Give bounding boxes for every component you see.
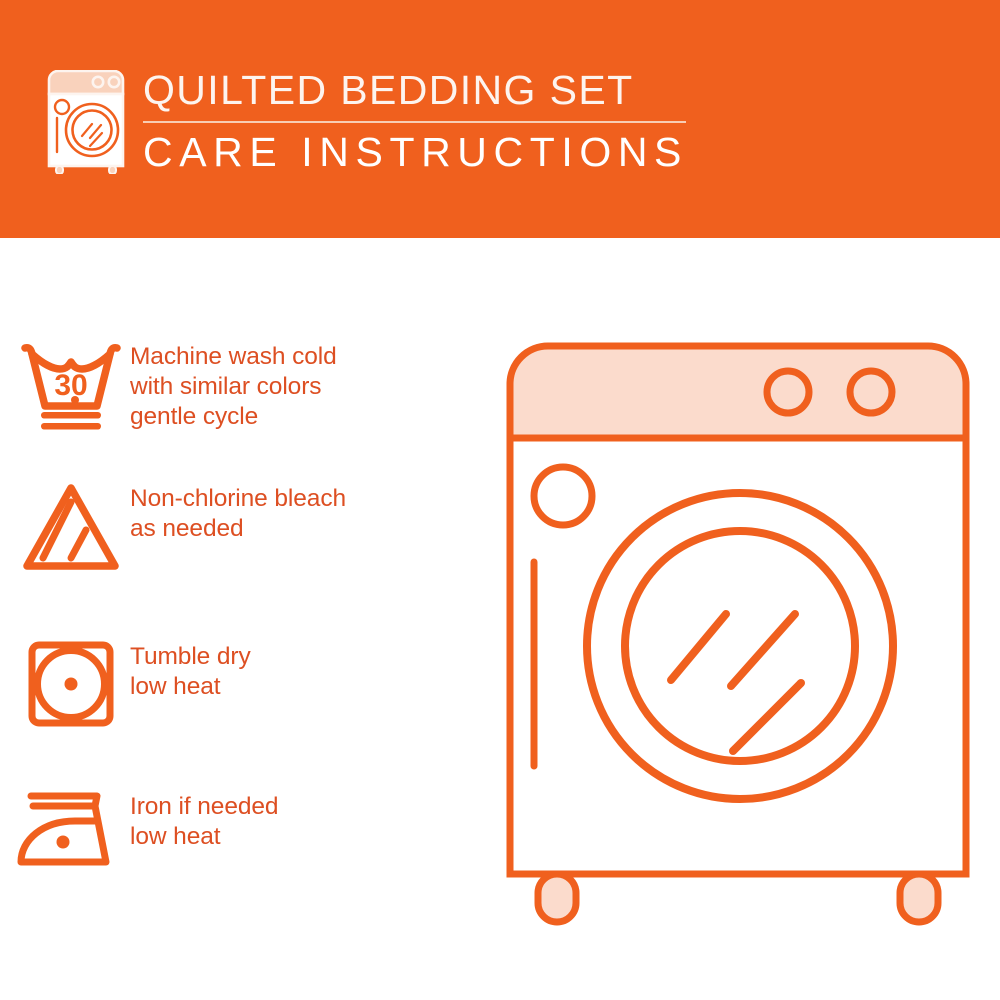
care-item-label: Machine wash cold with similar colors ge… <box>130 338 337 432</box>
header-banner: QUILTED BEDDING SET CARE INSTRUCTIONS <box>0 0 1000 238</box>
header-text-block: QUILTED BEDDING SET CARE INSTRUCTIONS <box>143 66 703 177</box>
care-instructions-page: QUILTED BEDDING SET CARE INSTRUCTIONS 30 <box>0 0 1000 1000</box>
bleach-triangle-icon <box>0 480 130 576</box>
care-symbol-list: 30 Machine wash cold with similar colors… <box>0 238 480 1000</box>
care-item-tumble-dry: Tumble dry low heat <box>0 638 480 734</box>
washing-machine-icon <box>44 70 128 174</box>
wash-temperature-value: 30 <box>54 369 87 402</box>
iron-icon <box>0 788 130 872</box>
header-divider <box>143 121 686 123</box>
washing-machine-illustration <box>488 326 988 946</box>
tumble-dry-icon <box>0 638 130 734</box>
page-title: QUILTED BEDDING SET <box>143 66 703 114</box>
care-item-label: Tumble dry low heat <box>130 638 251 702</box>
care-item-iron: Iron if needed low heat <box>0 788 480 872</box>
care-item-machine-wash: 30 Machine wash cold with similar colors… <box>0 338 480 436</box>
care-item-bleach: Non-chlorine bleach as needed <box>0 480 480 576</box>
wash-tub-icon: 30 <box>0 338 130 436</box>
care-item-label: Non-chlorine bleach as needed <box>130 480 346 544</box>
page-subtitle: CARE INSTRUCTIONS <box>143 127 703 177</box>
care-item-label: Iron if needed low heat <box>130 788 278 852</box>
